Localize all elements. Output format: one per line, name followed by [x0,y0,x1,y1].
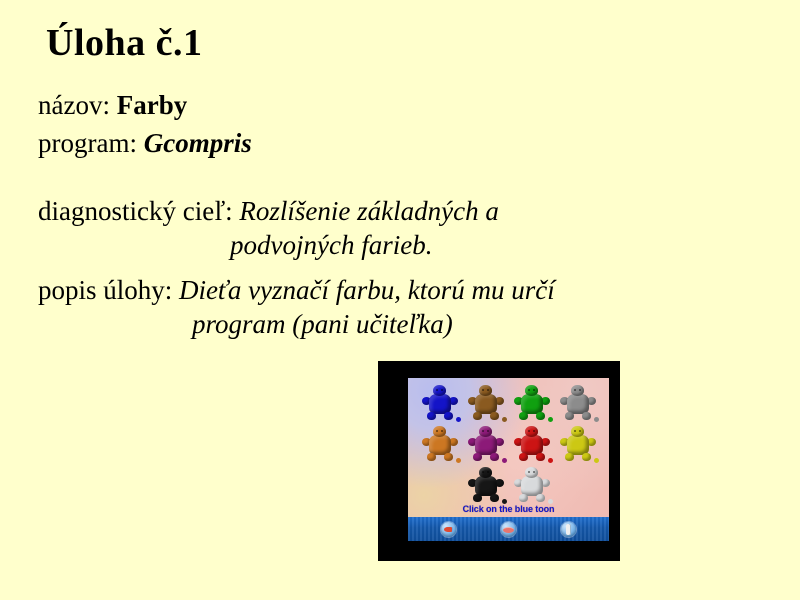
toon-row [408,384,609,425]
toon-row [408,425,609,466]
toon-red[interactable] [512,425,552,465]
field-diagnostic-label: diagnostický cieľ: [38,196,239,226]
config-icon[interactable] [561,522,576,537]
toon-blue[interactable] [420,384,460,424]
gcompris-toolbar [408,517,609,541]
field-diagnostic: diagnostický cieľ: Rozlíšenie základných… [38,198,499,225]
toon-grey[interactable] [558,384,598,424]
page-title: Úloha č.1 [46,24,203,62]
mouth-icon[interactable] [501,522,516,537]
gcompris-activity-screen: Click on the blue toon [408,378,609,541]
field-nazov-label: názov: [38,90,117,120]
toon-grid [408,384,609,506]
field-diagnostic-value-line1: Rozlíšenie základných a [239,196,498,226]
toon-purple[interactable] [466,425,506,465]
toon-yellow[interactable] [558,425,598,465]
field-description-value-line1: Dieťa vyznačí farbu, ktorú mu určí [179,275,555,305]
toon-black[interactable] [466,466,506,506]
field-diagnostic-value-line2: podvojných farieb. [230,232,432,259]
toon-row [408,466,609,507]
field-nazov: názov: Farby [38,92,187,119]
field-description-value-line2: program (pani učiteľka) [192,311,453,338]
toon-green[interactable] [512,384,552,424]
toon-brown[interactable] [466,384,506,424]
toon-orange[interactable] [420,425,460,465]
field-program-value: Gcompris [144,128,252,158]
fish-icon[interactable] [441,522,456,537]
embedded-screenshot: Click on the blue toon [378,361,620,561]
field-program: program: Gcompris [38,130,252,157]
field-program-label: program: [38,128,144,158]
gcompris-prompt-text: Click on the blue toon [408,504,609,514]
field-description: popis úlohy: Dieťa vyznačí farbu, ktorú … [38,277,555,304]
slide-canvas: Úloha č.1 názov: Farby program: Gcompris… [0,0,800,600]
field-description-label: popis úlohy: [38,275,179,305]
toon-white[interactable] [512,466,552,506]
field-nazov-value: Farby [117,90,188,120]
